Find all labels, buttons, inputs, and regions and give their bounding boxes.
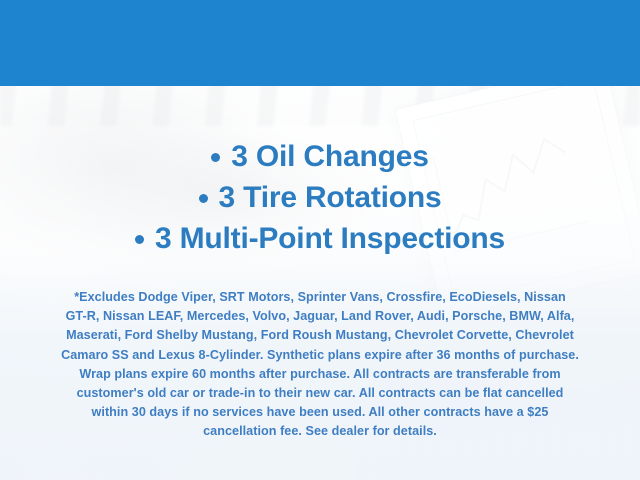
- fineprint-line: Camaro SS and Lexus 8-Cylinder. Syntheti…: [30, 346, 610, 365]
- fineprint-line: *Excludes Dodge Viper, SRT Motors, Sprin…: [30, 288, 610, 307]
- fineprint-line: Maserati, Ford Shelby Mustang, Ford Rous…: [30, 326, 610, 345]
- bullet-icon: [199, 194, 208, 203]
- benefit-item-oil-changes: 3 Oil Changes: [0, 136, 640, 177]
- bullet-icon: [211, 153, 220, 162]
- extracare-promo-card: ExtraCare Package* 3 Oil Changes 3 Tire …: [0, 0, 640, 480]
- bullet-icon: [135, 235, 144, 244]
- fineprint-line: within 30 days if no services have been …: [30, 403, 610, 422]
- fineprint-disclaimer: *Excludes Dodge Viper, SRT Motors, Sprin…: [30, 288, 610, 442]
- fineprint-line: customer's old car or trade-in to their …: [30, 384, 610, 403]
- benefit-label: 3 Oil Changes: [231, 140, 428, 174]
- benefit-label: 3 Tire Rotations: [219, 181, 442, 215]
- benefits-list: 3 Oil Changes 3 Tire Rotations 3 Multi-P…: [0, 136, 640, 259]
- fineprint-line: GT-R, Nissan LEAF, Mercedes, Volvo, Jagu…: [30, 307, 610, 326]
- benefit-item-multi-point-inspections: 3 Multi-Point Inspections: [0, 218, 640, 259]
- benefit-item-tire-rotations: 3 Tire Rotations: [0, 177, 640, 218]
- benefit-label: 3 Multi-Point Inspections: [155, 222, 505, 256]
- fineprint-line: Wrap plans expire 60 months after purcha…: [30, 365, 610, 384]
- header-band: [0, 0, 640, 86]
- fineprint-line: cancellation fee. See dealer for details…: [30, 422, 610, 441]
